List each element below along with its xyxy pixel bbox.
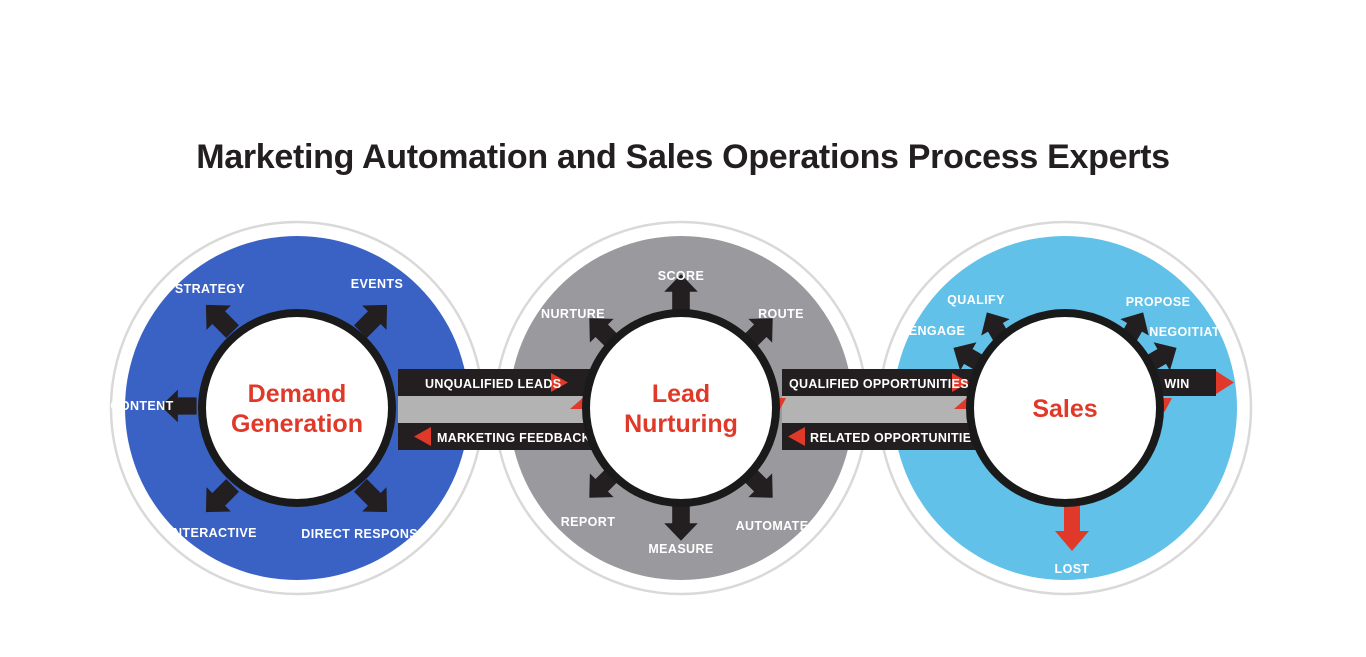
- spoke-label-engage: ENGAGE: [909, 324, 966, 338]
- connector1-forward-label: UNQUALIFIED LEADS: [425, 377, 561, 391]
- spoke-label-nurture: NURTURE: [541, 307, 605, 321]
- spoke-label-propose: PROPOSE: [1126, 295, 1191, 309]
- hub-label-lead-nurturing-line2: Nurturing: [624, 410, 738, 438]
- spoke-label-interactive: INTERACTIVE: [169, 526, 257, 540]
- spoke-label-direct-response: DIRECT RESPONSE: [301, 527, 426, 541]
- spoke-label-strategy: STRATEGY: [175, 282, 246, 296]
- win-label: WIN: [1164, 377, 1189, 391]
- spoke-label-measure: MEASURE: [648, 542, 713, 556]
- spoke-label-events: EVENTS: [351, 277, 403, 291]
- diagram-canvas: Marketing Automation and Sales Operation…: [0, 0, 1366, 657]
- hub-demand-generation: [202, 313, 392, 503]
- spoke-label-content: CONTENT: [110, 399, 173, 413]
- hub-label-lead-nurturing-line1: Lead: [652, 380, 710, 408]
- spoke-label-negoitiate: NEGOITIATE: [1149, 325, 1228, 339]
- hub-lead-nurturing: [586, 313, 776, 503]
- spoke-label-automate: AUTOMATE: [736, 519, 809, 533]
- spoke-label-lost: LOST: [1055, 562, 1090, 576]
- hub-label-demand-generation-line1: Demand: [248, 380, 347, 408]
- connector2-forward-label: QUALIFIED OPPORTUNITIES: [789, 377, 969, 391]
- spoke-label-qualify: QUALIFY: [947, 293, 1005, 307]
- connector1-reverse-label: MARKETING FEEDBACK: [437, 431, 591, 445]
- hub-label-demand-generation-line2: Generation: [231, 410, 363, 438]
- process-diagram: UNQUALIFIED LEADS MARKETING FEEDBACK QUA…: [0, 0, 1366, 657]
- connector2-reverse-label: RELATED OPPORTUNITIES: [810, 431, 980, 445]
- hub-label-sales: Sales: [1032, 395, 1097, 423]
- spoke-label-score: SCORE: [658, 269, 704, 283]
- spoke-label-report: REPORT: [561, 515, 616, 529]
- spoke-label-route: ROUTE: [758, 307, 804, 321]
